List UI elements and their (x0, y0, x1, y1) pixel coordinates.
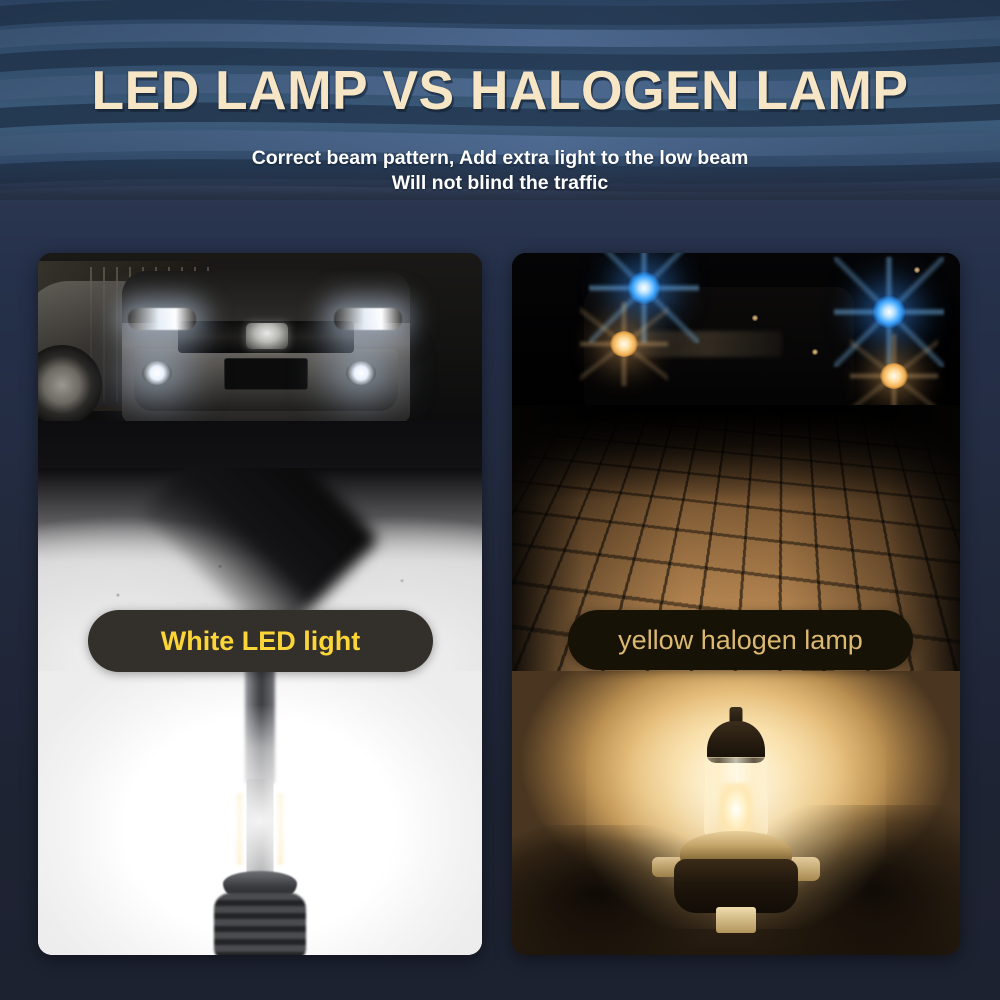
led-bulb-photo (38, 671, 482, 955)
led-foglamp-left (142, 361, 172, 385)
distant-orange-light-b (812, 349, 818, 355)
halogen-badge-label: yellow halogen lamp (618, 625, 863, 656)
distant-orange-light-c (914, 267, 920, 273)
halogen-bulb-connector (716, 907, 756, 933)
halogen-lamp-left (610, 331, 638, 357)
led-headlamp-right (334, 308, 402, 330)
license-plate (224, 358, 308, 390)
blue-accent-light-left (627, 271, 661, 305)
halogen-night-road-photo (512, 253, 960, 671)
halogen-bulb-photo (512, 671, 960, 955)
led-badge-label: White LED light (161, 626, 360, 657)
page-title: LED LAMP VS HALOGEN LAMP (15, 58, 985, 122)
halogen-lamp-right (880, 363, 908, 389)
led-headlamp-left (128, 308, 196, 330)
subtitle-line-2: Will not blind the traffic (0, 171, 1000, 196)
distant-orange-light-a (752, 315, 758, 321)
led-bulb-heatsink-base (214, 893, 306, 955)
led-emitter-chips (237, 793, 284, 865)
led-comparison-panel[interactable] (38, 253, 482, 955)
page-subtitle: Correct beam pattern, Add extra light to… (0, 146, 1000, 196)
led-bulb-shaft (245, 671, 275, 783)
halogen-filament (720, 783, 752, 835)
halogen-badge[interactable]: yellow halogen lamp (568, 610, 913, 670)
led-night-road-photo (38, 253, 482, 671)
led-badge[interactable]: White LED light (88, 610, 433, 672)
blue-accent-light-right (872, 295, 906, 329)
honda-emblem-icon (246, 323, 288, 349)
led-foglamp-right (346, 361, 376, 385)
product-comparison-page: LED LAMP VS HALOGEN LAMP Correct beam pa… (0, 0, 1000, 1000)
halogen-bulb-hub (674, 859, 798, 913)
halogen-comparison-panel[interactable] (512, 253, 960, 955)
subtitle-line-1: Correct beam pattern, Add extra light to… (252, 147, 749, 169)
